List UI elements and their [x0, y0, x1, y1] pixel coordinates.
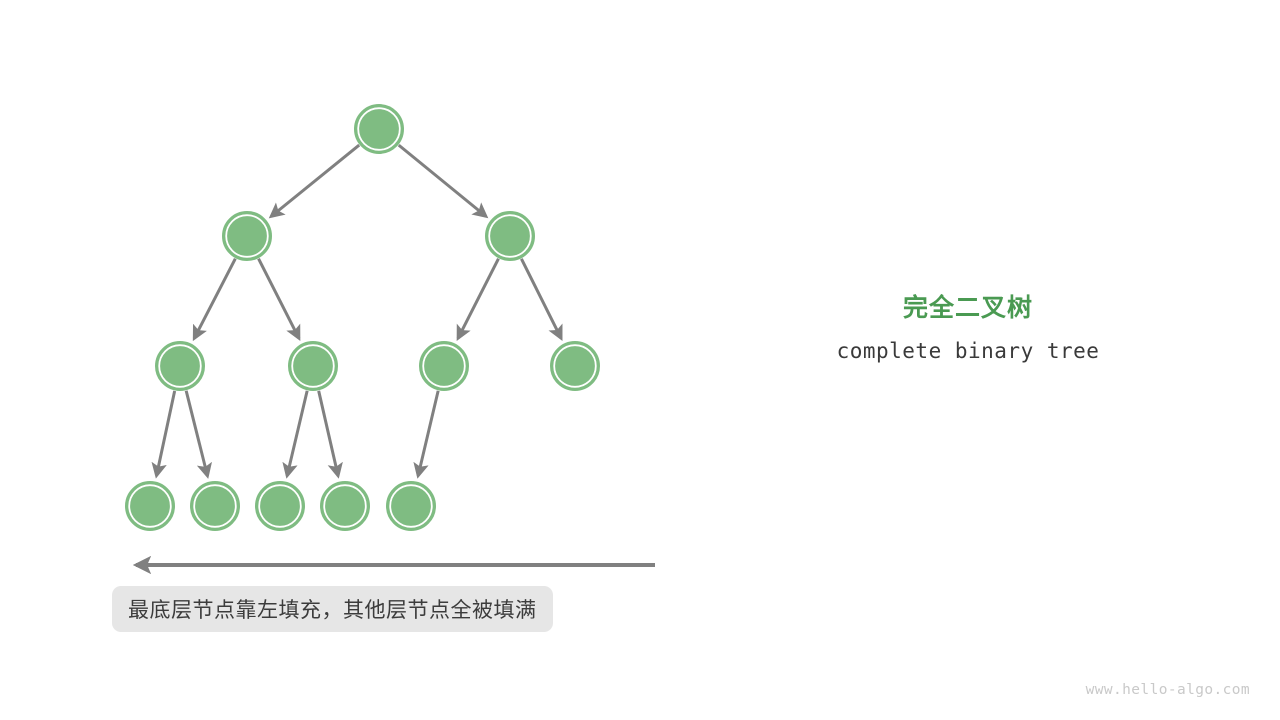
- tree-edges: [157, 145, 562, 476]
- tree-node-core: [228, 217, 267, 256]
- diagram-canvas: 完全二叉树 complete binary tree 最底层节点靠左填充，其他层…: [0, 0, 1280, 720]
- legend-subtitle: complete binary tree: [818, 338, 1118, 364]
- tree-edge: [194, 259, 235, 339]
- tree-node-core: [294, 347, 333, 386]
- tree-edge: [319, 391, 338, 476]
- tree-edge: [458, 259, 498, 339]
- tree-node-core: [360, 110, 399, 149]
- tree-node-core: [326, 487, 365, 526]
- legend-title: 完全二叉树: [818, 292, 1118, 324]
- tree-node: [191, 482, 239, 530]
- tree-edge: [418, 391, 438, 476]
- tree-node: [420, 342, 468, 390]
- tree-nodes: [126, 105, 599, 530]
- tree-node-core: [392, 487, 431, 526]
- tree-node: [551, 342, 599, 390]
- tree-node: [321, 482, 369, 530]
- tree-node-core: [491, 217, 530, 256]
- tree-node-core: [131, 487, 170, 526]
- tree-node: [156, 342, 204, 390]
- tree-node-core: [556, 347, 595, 386]
- tree-edge: [271, 145, 359, 216]
- tree-node: [387, 482, 435, 530]
- tree-node: [486, 212, 534, 260]
- tree-node: [126, 482, 174, 530]
- tree-node: [355, 105, 403, 153]
- footer-watermark: www.hello-algo.com: [1086, 682, 1250, 698]
- tree-edge: [399, 145, 486, 216]
- tree-edge: [259, 259, 299, 339]
- tree-node: [223, 212, 271, 260]
- tree-node-core: [196, 487, 235, 526]
- tree-edge: [186, 391, 207, 476]
- tree-node-core: [261, 487, 300, 526]
- tree-node: [289, 342, 337, 390]
- tree-node-core: [161, 347, 200, 386]
- legend-block: 完全二叉树 complete binary tree: [818, 292, 1118, 364]
- caption-badge: 最底层节点靠左填充，其他层节点全被填满: [112, 586, 553, 632]
- tree-node-core: [425, 347, 464, 386]
- caption-text: 最底层节点靠左填充，其他层节点全被填满: [128, 594, 537, 624]
- tree-edge: [287, 391, 307, 476]
- tree-node: [256, 482, 304, 530]
- tree-edge: [521, 259, 561, 338]
- tree-edge: [157, 391, 175, 476]
